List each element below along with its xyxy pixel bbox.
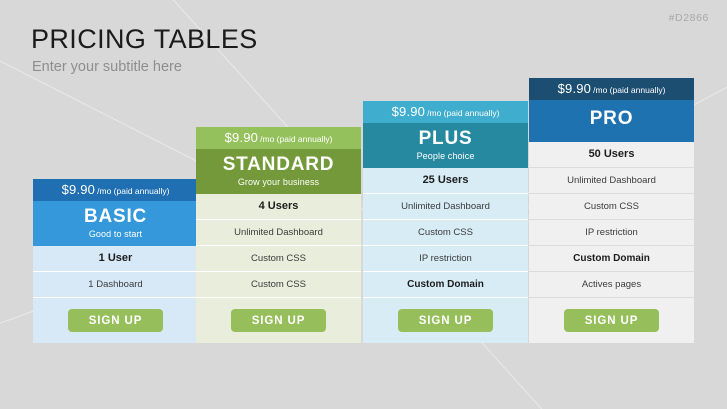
feature-row: IP restriction	[363, 246, 528, 272]
feature-row: Unlimited Dashboard	[529, 168, 694, 194]
price-period: /mo (paid annually)	[593, 85, 665, 95]
signup-button-pro[interactable]: SIGN UP	[564, 309, 659, 332]
feature-row: Unlimited Dashboard	[363, 194, 528, 220]
signup-button-standard[interactable]: SIGN UP	[231, 309, 326, 332]
cta-row: SIGN UP	[196, 298, 361, 343]
price-amount: $9.90	[558, 81, 592, 96]
price-bar-pro: $9.90/mo (paid annually)	[529, 78, 694, 100]
plan-header-standard: STANDARD Grow your business	[196, 149, 361, 194]
feature-row: 1 Dashboard	[33, 272, 198, 298]
feature-row: Custom CSS	[363, 220, 528, 246]
price-bar-standard: $9.90/mo (paid annually)	[196, 127, 361, 149]
price-amount: $9.90	[392, 104, 426, 119]
signup-button-basic[interactable]: SIGN UP	[68, 309, 163, 332]
feature-row: Custom Domain	[363, 272, 528, 298]
feature-row: Unlimited Dashboard	[196, 220, 361, 246]
plan-tagline: Grow your business	[200, 177, 357, 187]
feature-row: 1 User	[33, 246, 198, 272]
plan-features-pro: 50 Users Unlimited Dashboard Custom CSS …	[529, 142, 694, 343]
plan-tagline: Good to start	[37, 229, 194, 239]
plan-tagline: People choice	[367, 151, 524, 161]
slide-code: #D2866	[669, 12, 709, 24]
pricing-column-plus[interactable]: $9.90/mo (paid annually) PLUS People cho…	[363, 101, 528, 343]
feature-row: IP restriction	[529, 220, 694, 246]
plan-header-plus: PLUS People choice	[363, 123, 528, 168]
cta-row: SIGN UP	[529, 298, 694, 343]
price-bar-plus: $9.90/mo (paid annually)	[363, 101, 528, 123]
price-period: /mo (paid annually)	[427, 108, 499, 118]
feature-row: Custom CSS	[196, 272, 361, 298]
page-title: PRICING TABLES	[31, 24, 258, 55]
feature-row: 25 Users	[363, 168, 528, 194]
plan-header-pro: PRO	[529, 100, 694, 142]
price-period: /mo (paid annually)	[260, 134, 332, 144]
plan-features-plus: 25 Users Unlimited Dashboard Custom CSS …	[363, 168, 528, 343]
plan-features-standard: 4 Users Unlimited Dashboard Custom CSS C…	[196, 194, 361, 343]
pricing-tables: $9.90/mo (paid annually) BASIC Good to s…	[33, 84, 694, 343]
price-amount: $9.90	[62, 182, 96, 197]
price-amount: $9.90	[225, 130, 259, 145]
feature-row: 50 Users	[529, 142, 694, 168]
feature-row: Custom CSS	[529, 194, 694, 220]
plan-name: STANDARD	[200, 155, 357, 176]
feature-row: 4 Users	[196, 194, 361, 220]
price-bar-basic: $9.90/mo (paid annually)	[33, 179, 198, 201]
cta-row: SIGN UP	[33, 298, 198, 343]
plan-name: BASIC	[37, 207, 194, 228]
pricing-column-pro[interactable]: $9.90/mo (paid annually) PRO 50 Users Un…	[529, 78, 694, 343]
pricing-column-basic[interactable]: $9.90/mo (paid annually) BASIC Good to s…	[33, 179, 198, 343]
page-subtitle: Enter your subtitle here	[32, 59, 182, 75]
price-period: /mo (paid annually)	[97, 186, 169, 196]
signup-button-plus[interactable]: SIGN UP	[398, 309, 493, 332]
plan-name: PLUS	[367, 129, 524, 150]
plan-name: PRO	[533, 109, 690, 130]
plan-header-basic: BASIC Good to start	[33, 201, 198, 246]
feature-row: Custom CSS	[196, 246, 361, 272]
cta-row: SIGN UP	[363, 298, 528, 343]
plan-features-basic: 1 User 1 Dashboard SIGN UP	[33, 246, 198, 343]
pricing-column-standard[interactable]: $9.90/mo (paid annually) STANDARD Grow y…	[196, 127, 361, 343]
feature-row: Custom Domain	[529, 246, 694, 272]
feature-row: Actives pages	[529, 272, 694, 298]
